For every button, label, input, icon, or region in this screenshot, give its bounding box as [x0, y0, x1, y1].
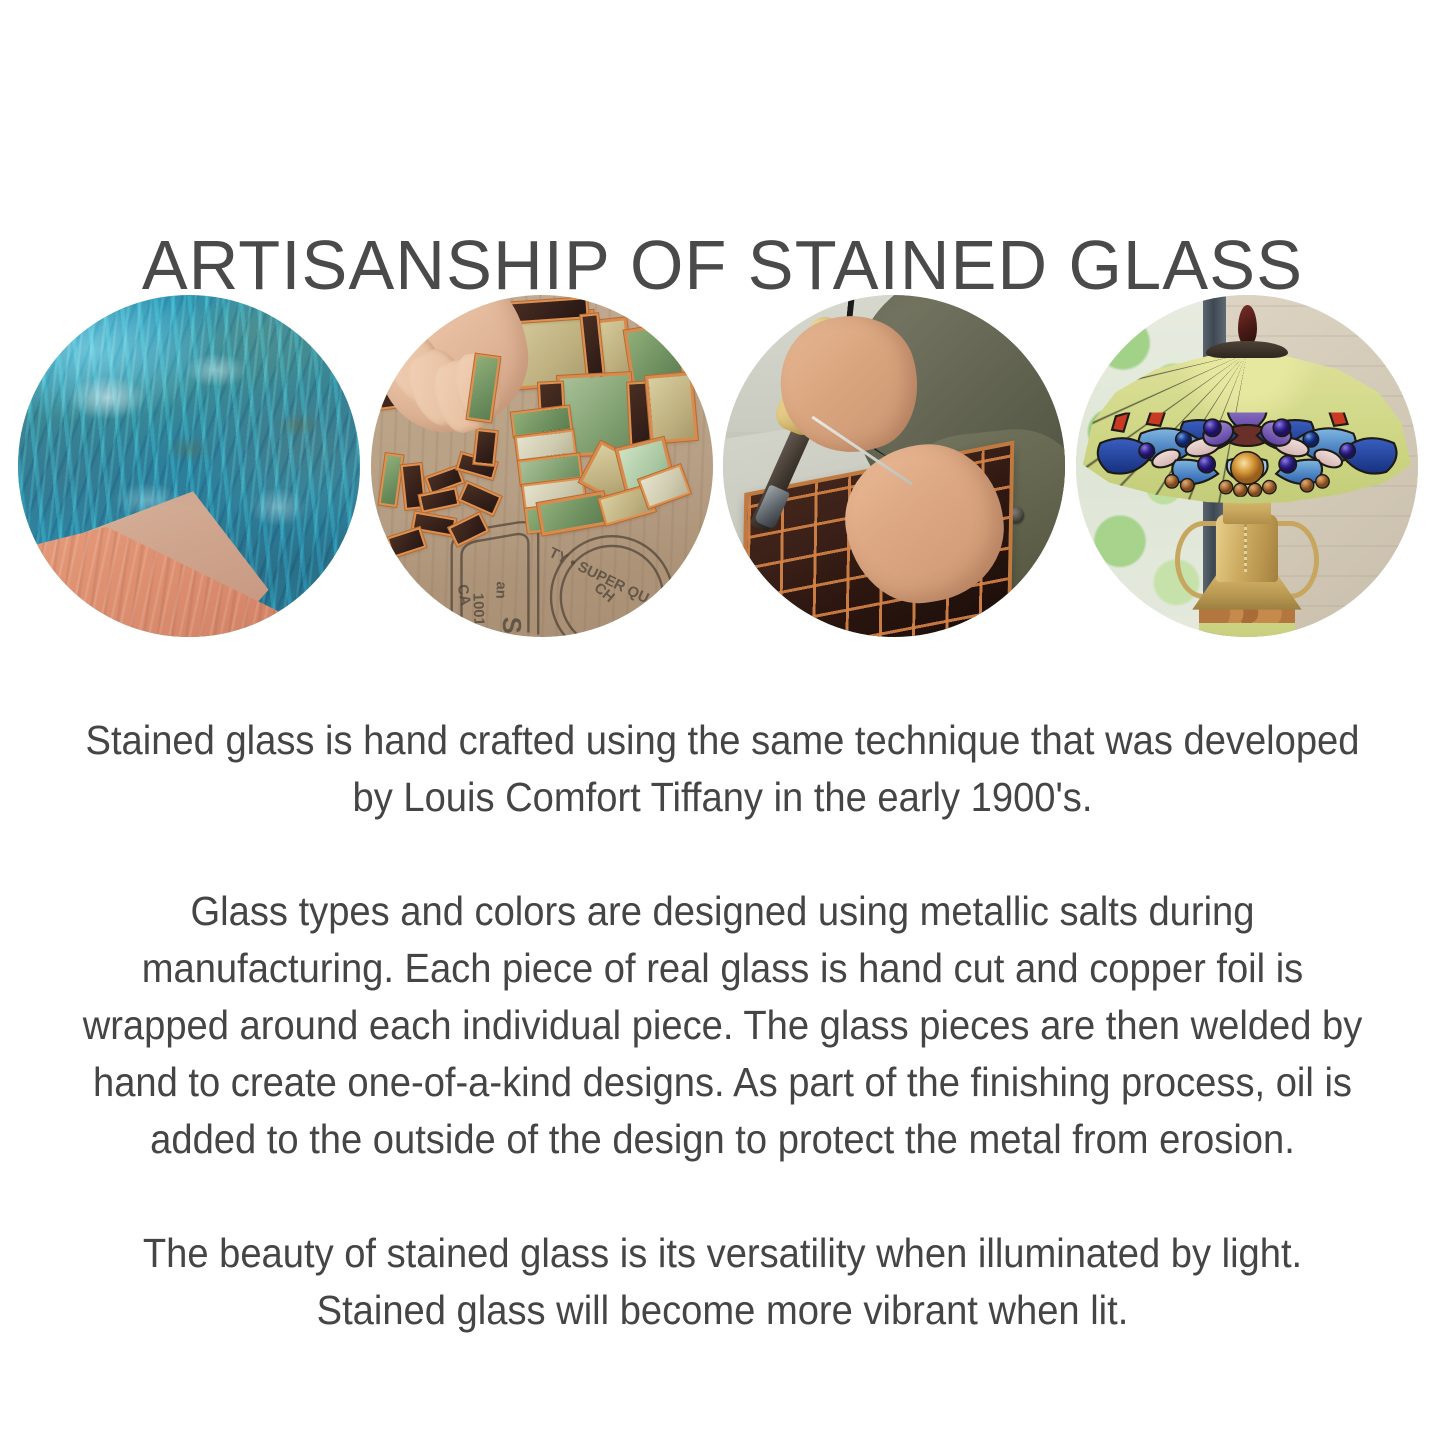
gallery-image-copper-foiling: TY • SUPER QU CH 1001:20 an CA SO [371, 295, 713, 637]
svg-text:SO: SO [497, 616, 525, 637]
svg-text:an: an [492, 581, 509, 599]
lamp-shade-cap [1206, 341, 1288, 358]
page-title: ARTISANSHIP OF STAINED GLASS [14, 225, 1430, 305]
gallery-image-glass-sheet [18, 295, 360, 637]
paragraph-spacer [77, 826, 1369, 883]
paragraph-spacer [77, 1168, 1369, 1225]
infographic-page: ARTISANSHIP OF STAINED GLASS [0, 0, 1445, 1445]
lamp-base-stem [1216, 514, 1278, 582]
glass-scrap [475, 431, 495, 463]
svg-text:CA: CA [454, 583, 474, 607]
paragraph-2: Glass types and colors are designed usin… [77, 883, 1369, 1168]
gallery-image-tiffany-lamp [1076, 295, 1418, 637]
paragraph-1: Stained glass is hand crafted using the … [77, 712, 1369, 826]
description-text: Stained glass is hand crafted using the … [77, 712, 1369, 1339]
lamp-shade-ornament-band [1083, 401, 1411, 497]
foiled-glass-piece [648, 375, 694, 440]
gallery-image-soldering [723, 295, 1065, 637]
paragraph-3: The beauty of stained glass is its versa… [77, 1225, 1369, 1339]
lamp-finial [1238, 305, 1257, 346]
image-gallery: TY • SUPER QU CH 1001:20 an CA SO [18, 295, 1418, 645]
